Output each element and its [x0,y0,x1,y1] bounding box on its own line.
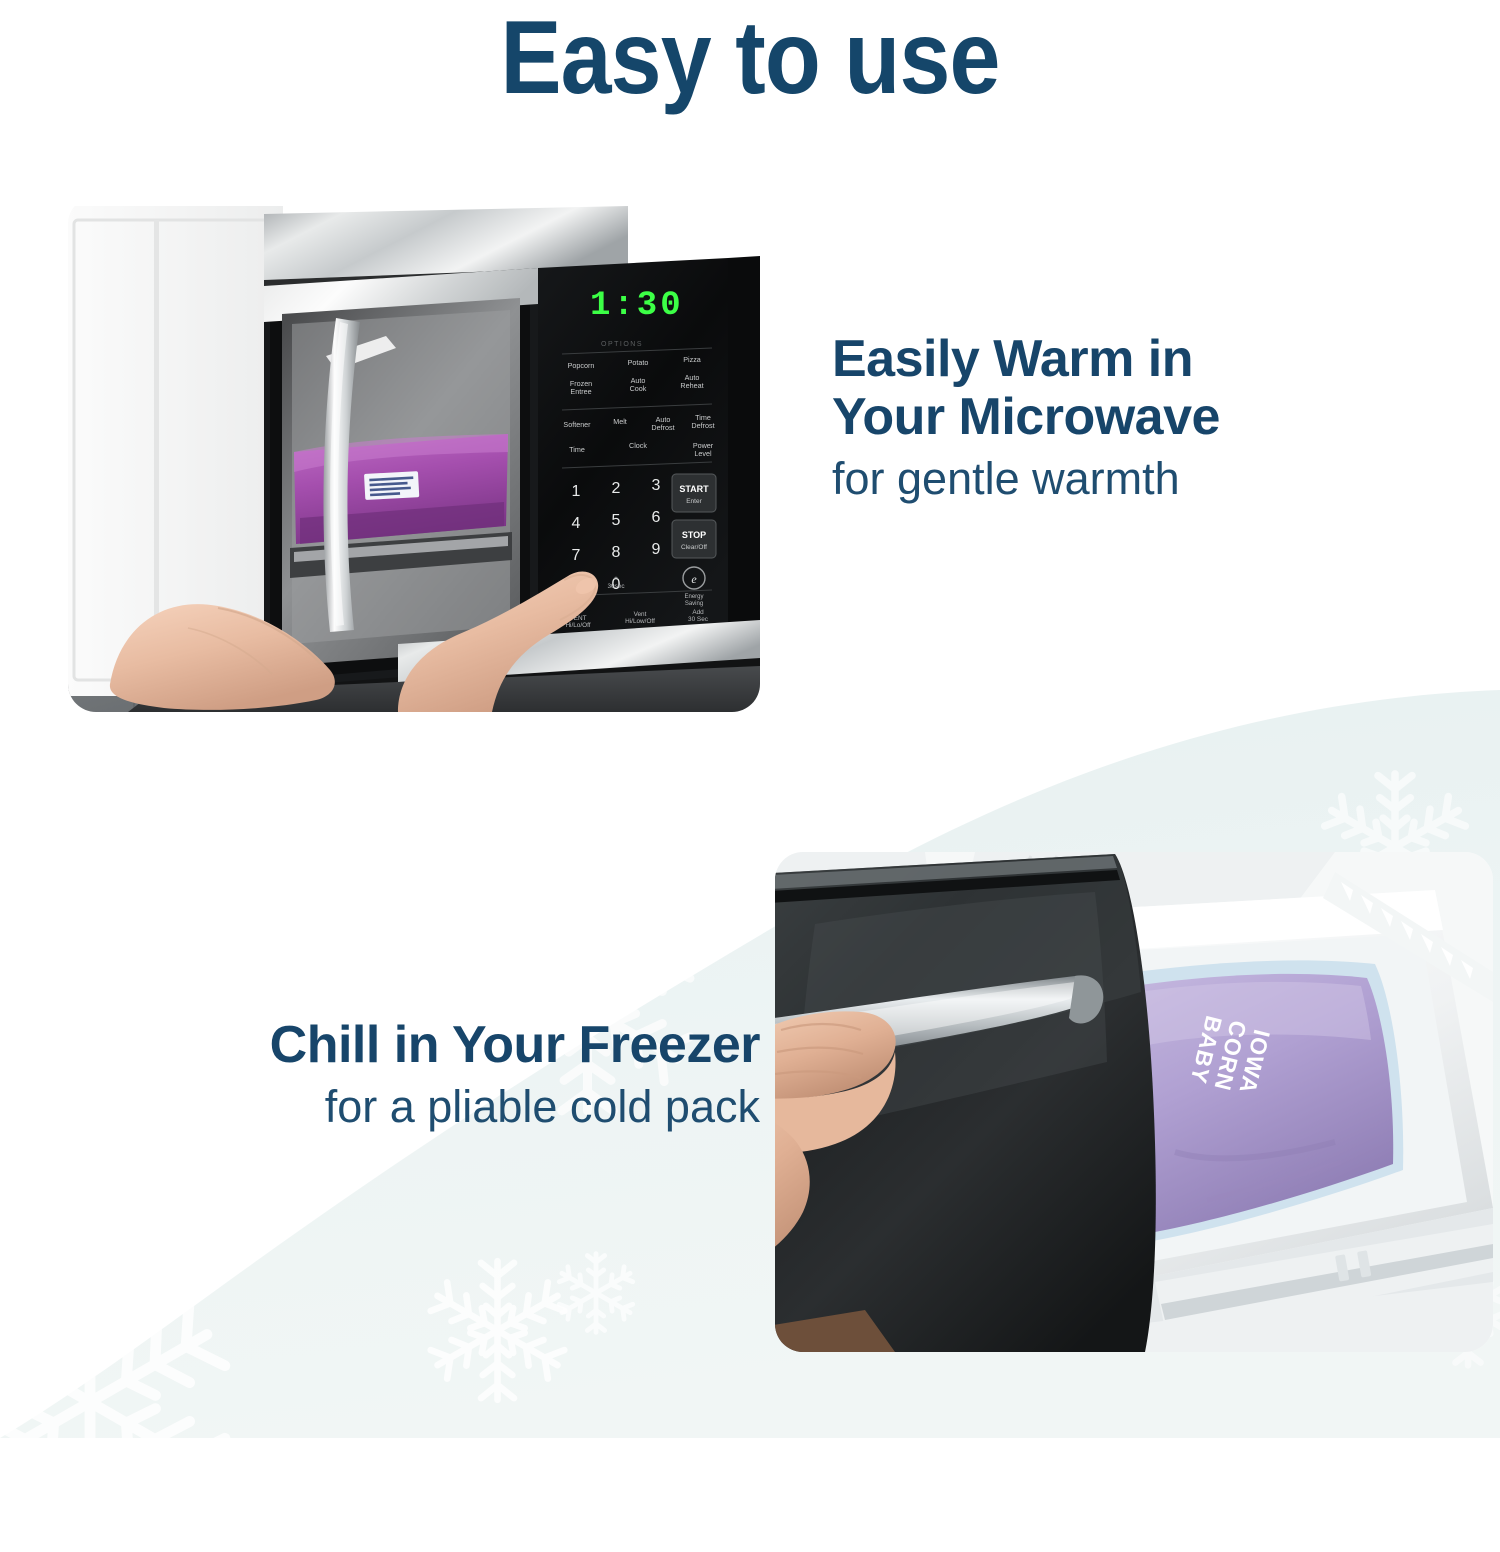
svg-text:STOP: STOP [682,530,706,540]
svg-text:3: 3 [652,477,661,494]
svg-text:6: 6 [652,509,661,526]
svg-text:2: 2 [612,480,621,497]
microwave-subline: for gentle warmth [832,452,1392,506]
svg-text:Popcorn: Popcorn [568,361,595,370]
svg-text:Pizza: Pizza [683,355,701,364]
caption-freezer: Chill in Your Freezer for a pliable cold… [60,1016,760,1134]
svg-text:5: 5 [612,512,621,529]
page-title: Easy to use [90,0,1410,114]
svg-text:OPTIONS: OPTIONS [601,341,643,348]
svg-text:7: 7 [572,547,581,564]
microwave-display-value: 1:30 [590,287,684,325]
svg-text:EnergySaving: EnergySaving [684,594,703,607]
freezer-photo: IOWA CORN BABY [775,852,1493,1352]
svg-text:Potato: Potato [628,358,649,367]
svg-text:START: START [679,484,709,494]
svg-text:Melt: Melt [613,417,627,426]
freezer-subline: for a pliable cold pack [60,1080,760,1134]
svg-text:PowerLevel: PowerLevel [693,441,714,458]
svg-text:FrozenEntree: FrozenEntree [570,379,592,396]
svg-text:Softener: Softener [563,420,591,429]
svg-text:Clock: Clock [629,441,647,450]
svg-text:4: 4 [572,515,581,532]
microwave-headline-line1: Easily Warm in [832,330,1392,388]
svg-text:Enter: Enter [686,498,702,505]
caption-microwave: Easily Warm in Your Microwave for gentle… [832,330,1392,506]
svg-text:8: 8 [612,544,621,561]
svg-text:1: 1 [572,483,581,500]
svg-text:Clear/Off: Clear/Off [681,544,707,551]
svg-text:AutoCook: AutoCook [630,376,647,393]
microwave-photo: 1:30 OPTIONS Popcorn Potato Pizza Frozen… [68,196,760,712]
microwave-headline-line2: Your Microwave [832,388,1392,446]
svg-text:Time: Time [569,445,585,454]
freezer-headline: Chill in Your Freezer [60,1016,760,1074]
svg-text:9: 9 [652,541,661,558]
svg-text:e: e [691,572,697,586]
